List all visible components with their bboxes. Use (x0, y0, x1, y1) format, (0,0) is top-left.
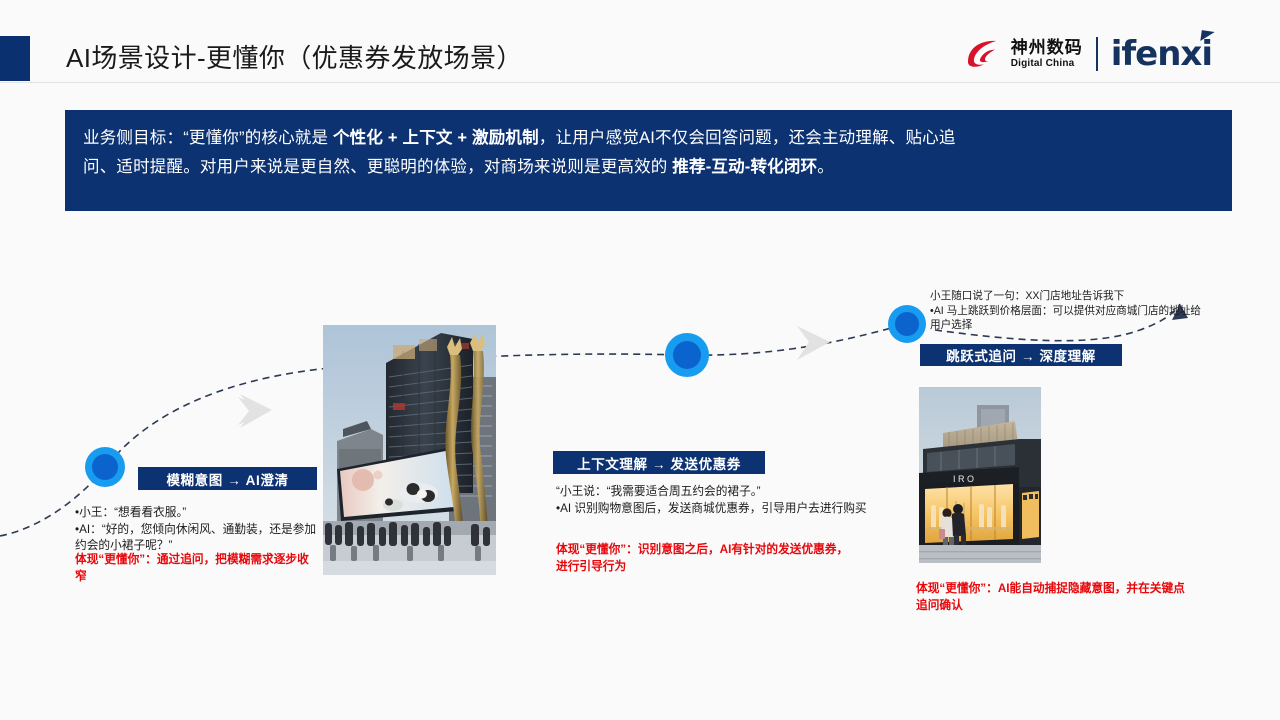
ifenxi-logo: ifenxi (1111, 37, 1212, 71)
header-divider (0, 82, 1280, 83)
step-3-body-line-2: •AI 马上跳跃到价格层面：可以提供对应商城门店的地址给用户选择 (930, 304, 1202, 333)
step-2-label: 上下文理解 → 发送优惠券 (553, 451, 765, 474)
step-3-body-line-1: 小王随口说了一句：XX门店地址告诉我下 (930, 289, 1202, 304)
step-3-label: 跳跃式追问 → 深度理解 (920, 344, 1122, 366)
step-2-body: “小王说：“我需要适合周五约会的裙子。” •AI 识别购物意图后，发送商城优惠券… (556, 484, 868, 517)
step-1-label: 模糊意图 → AI澄清 (138, 467, 317, 490)
step-marker-1-core (92, 454, 118, 480)
chevron-arrow-icon-3 (797, 326, 830, 360)
banner-line-2: 问、适时提醒。对用户来说是更自然、更聪明的体验，对商场来说则是更高效的 推荐-互… (83, 153, 1214, 182)
chevron-arrow-icon-1b (240, 394, 272, 428)
step-marker-3[interactable] (888, 305, 926, 343)
step-3-body: 小王随口说了一句：XX门店地址告诉我下 •AI 马上跳跃到价格层面：可以提供对应… (930, 289, 1202, 333)
step-marker-3-core (895, 312, 919, 336)
slide-root: AI场景设计-更懂你（优惠券发放场景） 神州数码 Digital China i… (0, 0, 1280, 720)
objective-banner: 业务侧目标：“更懂你”的核心就是 个性化 + 上下文 + 激励机制，让用户感觉A… (65, 110, 1232, 211)
photo-city-plaza-billboard (323, 325, 496, 575)
chevron-arrow-icon-1 (238, 397, 268, 425)
step-2-body-line-2: •AI 识别购物意图后，发送商城优惠券，引导用户去进行购买 (556, 501, 868, 518)
banner-l2-c: 。 (817, 158, 834, 176)
banner-l1-c: ，让用户感觉AI不仅会回答问题，还会主动理解、贴心追 (539, 129, 956, 147)
step-2-highlight: 体现“更懂你”：识别意图之后，AI有针对的发送优惠券，进行引导行为 (556, 542, 856, 575)
step-1-highlight: 体现“更懂你”：通过追问，把模糊需求逐步收窄 (75, 552, 315, 585)
step-marker-2[interactable] (665, 333, 709, 377)
digital-china-swoosh-icon (964, 38, 1004, 70)
ifenxi-flag-icon (1200, 30, 1214, 43)
step-2-body-line-1: “小王说：“我需要适合周五约会的裙子。” (556, 484, 868, 501)
banner-l2-bold: 推荐-互动-转化闭环 (672, 158, 817, 176)
brand-name-en: Digital China (1011, 59, 1083, 69)
step-marker-2-core (673, 341, 701, 369)
brand-name-cn: 神州数码 (1011, 39, 1083, 56)
header-accent-block (0, 36, 30, 81)
step-1-body-line-1: •小王：“想看看衣服。” (75, 505, 323, 522)
step-3-highlight: 体现“更懂你”：AI能自动捕捉隐藏意图，并在关键点追问确认 (916, 581, 1196, 614)
logo-lockup: 神州数码 Digital China ifenxi (964, 32, 1212, 76)
photo-iro-storefront-artwork: IRO (919, 387, 1041, 563)
ifenxi-wordmark: ifenxi (1111, 34, 1212, 74)
banner-l1-bold: 个性化 + 上下文 + 激励机制 (333, 129, 539, 147)
step-marker-1[interactable] (85, 447, 125, 487)
photo-iro-storefront: IRO (919, 387, 1041, 563)
step-1-body-line-2: •AI：“好的，您倾向休闲风、通勤装，还是参加约会的小裙子呢？” (75, 522, 323, 555)
photo-city-plaza-artwork (323, 325, 496, 575)
storefront-sign-text: IRO (953, 474, 977, 484)
digital-china-wordmark: 神州数码 Digital China (1011, 39, 1083, 69)
banner-line-1: 业务侧目标：“更懂你”的核心就是 个性化 + 上下文 + 激励机制，让用户感觉A… (83, 124, 1214, 153)
step-1-body: •小王：“想看看衣服。” •AI：“好的，您倾向休闲风、通勤装，还是参加约会的小… (75, 505, 323, 555)
banner-l1-a: 业务侧目标：“更懂你”的核心就是 (83, 129, 333, 147)
digital-china-logo: 神州数码 Digital China (964, 38, 1083, 70)
banner-l2-a: 问、适时提醒。对用户来说是更自然、更聪明的体验，对商场来说则是更高效的 (83, 158, 672, 176)
page-title: AI场景设计-更懂你（优惠券发放场景） (66, 38, 523, 75)
logo-divider (1096, 37, 1098, 71)
